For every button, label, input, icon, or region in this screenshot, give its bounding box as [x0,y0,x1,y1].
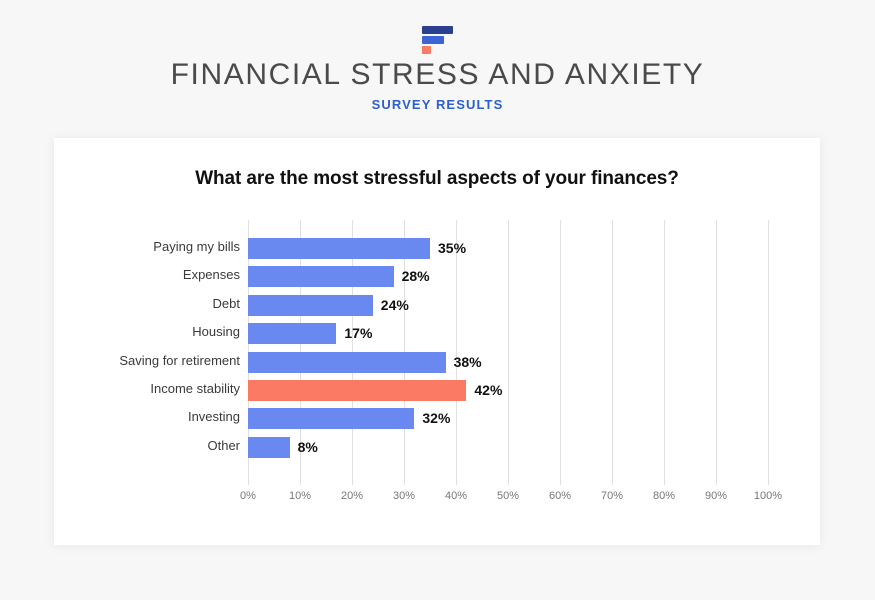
category-label-wrapper: Expenses [54,267,240,287]
bar[interactable] [248,437,290,458]
x-axis-tick-label: 30% [382,490,426,502]
gridline [768,220,769,485]
category-label: Paying my bills [60,239,240,254]
category-label-wrapper: Housing [54,324,240,344]
page-header: FINANCIAL STRESS AND ANXIETY SURVEY RESU… [0,0,875,138]
bar-value-label: 32% [422,408,450,429]
x-axis-tick-label: 50% [486,490,530,502]
category-label-wrapper: Other [54,438,240,458]
category-label-wrapper: Paying my bills [54,239,240,259]
x-axis-tick-label: 100% [746,490,790,502]
category-label: Investing [60,409,240,424]
x-axis-tick-label: 40% [434,490,478,502]
category-label: Income stability [60,381,240,396]
bar-value-label: 28% [402,266,430,287]
category-label-wrapper: Income stability [54,381,240,401]
page-title: FINANCIAL STRESS AND ANXIETY [0,58,875,92]
logo-mark [422,26,456,54]
chart-card: What are the most stressful aspects of y… [54,138,820,545]
category-label-wrapper: Debt [54,296,240,316]
x-axis-tick-label: 60% [538,490,582,502]
category-label-wrapper: Investing [54,409,240,429]
gridline [664,220,665,485]
category-label: Debt [60,296,240,311]
bar-value-label: 8% [298,437,318,458]
logo-bar-coral-icon [422,46,431,54]
bar[interactable] [248,352,446,373]
category-label: Expenses [60,267,240,282]
gridline [560,220,561,485]
bar-value-label: 24% [381,295,409,316]
category-label: Housing [60,324,240,339]
category-label-wrapper: Saving for retirement [54,353,240,373]
gridline [716,220,717,485]
x-axis-tick-label: 20% [330,490,374,502]
bar[interactable] [248,295,373,316]
bar-value-label: 42% [474,380,502,401]
x-axis-tick-label: 0% [226,490,270,502]
category-label: Saving for retirement [60,353,240,368]
bar[interactable] [248,408,414,429]
page-subtitle: SURVEY RESULTS [0,97,875,112]
bar[interactable] [248,380,466,401]
x-axis-tick-label: 90% [694,490,738,502]
bar-value-label: 38% [454,352,482,373]
logo-bar-blue-icon [422,36,444,44]
gridline [508,220,509,485]
logo-bar-dark-icon [422,26,453,34]
x-axis-tick-label: 10% [278,490,322,502]
bar-chart-plot: Paying my bills35%Expenses28%Debt24%Hous… [54,138,820,545]
bar[interactable] [248,323,336,344]
category-label: Other [60,438,240,453]
bar[interactable] [248,238,430,259]
bar-value-label: 17% [344,323,372,344]
bar[interactable] [248,266,394,287]
bar-value-label: 35% [438,238,466,259]
x-axis-tick-label: 70% [590,490,634,502]
x-axis-tick-label: 80% [642,490,686,502]
gridline [612,220,613,485]
